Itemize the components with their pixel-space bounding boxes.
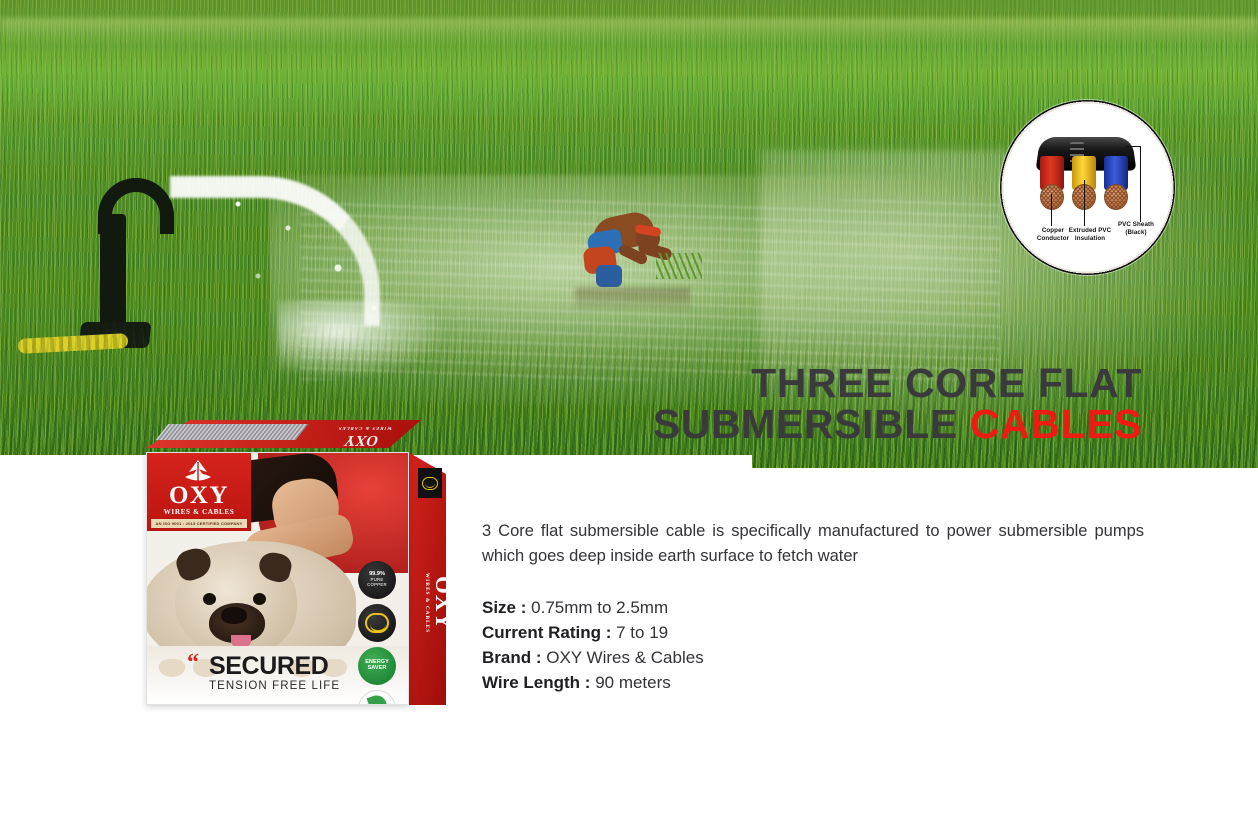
badge-eco-friendly: ECO FRIENDLY [358, 690, 396, 705]
iso-certification-line: AN ISO 9001 : 2015 CERTIFIED COMPANY [151, 519, 247, 528]
spec-value: 0.75mm to 2.5mm [531, 598, 668, 617]
spec-row: Brand : OXY Wires & Cables [482, 646, 704, 671]
pug-eye-right [253, 593, 266, 605]
field-light-band [0, 18, 1258, 44]
box-front-face: OXY WIRES & CABLES AN ISO 9001 : 2015 CE… [146, 452, 409, 705]
box-side-brand: OXY WIRES & CABLES [430, 558, 456, 648]
leaf-icon [366, 693, 388, 705]
farmer-legs [596, 265, 622, 287]
leader-line-sheath-v [1140, 146, 1141, 222]
pug-nose [221, 607, 247, 624]
leader-line-copper [1051, 194, 1052, 226]
hero-title: THREE CORE FLAT SUBMERSIBLE CABLES [653, 363, 1142, 444]
tagline-main: SECURED [209, 654, 399, 679]
badge-pure-copper: 99.9% PURE COPPER [358, 561, 396, 599]
box-lid-brand: OXY WIRES & CABLES [304, 422, 421, 448]
product-page: Copper Conductor Extruded PVC Insulation… [0, 0, 1258, 815]
spec-value: OXY Wires & Cables [546, 648, 703, 667]
spec-row: Size : 0.75mm to 2.5mm [482, 596, 704, 621]
isi-ring-icon [422, 477, 438, 490]
tagline-sub: TENSION FREE LIFE [209, 680, 399, 692]
copper-strands-blue [1104, 184, 1128, 210]
pug-eye-left [203, 593, 216, 605]
oxy-wordmark: OXY [147, 483, 251, 508]
leader-line-insulation [1084, 180, 1085, 226]
core-red [1040, 156, 1064, 212]
copper-strands-red [1040, 184, 1064, 210]
cable-diagram: Copper Conductor Extruded PVC Insulation… [1018, 118, 1157, 257]
farmer-figure [578, 205, 683, 295]
leader-line-sheath-h [1126, 146, 1141, 147]
badge-isi-mark [358, 604, 396, 642]
pug-paw [159, 659, 185, 677]
rice-seedlings [656, 253, 702, 279]
box-lid-barcode-strip [156, 424, 309, 440]
product-box-image: OXY WIRES & CABLES OXY WIRES & CABLES [130, 420, 442, 710]
spec-row: Current Rating : 7 to 19 [482, 621, 704, 646]
spec-label: Size : [482, 598, 526, 617]
product-specs-list: Size : 0.75mm to 2.5mm Current Rating : … [482, 596, 704, 696]
label-pvc-sheath: PVC Sheath (Black) [1110, 221, 1162, 237]
oxy-sub-wordmark: WIRES & CABLES [147, 508, 251, 516]
product-description: 3 Core flat submersible cable is specifi… [482, 519, 1144, 569]
core-blue [1104, 156, 1128, 212]
box-tagline: “ SECURED TENSION FREE LIFE ” [209, 654, 399, 692]
farmer-water-reflection [575, 288, 690, 314]
spec-label: Brand : [482, 648, 542, 667]
hero-title-line-1: THREE CORE FLAT [751, 360, 1142, 406]
hero-title-accent: CABLES [970, 401, 1142, 447]
spec-label: Current Rating : [482, 623, 611, 642]
spec-value: 90 meters [595, 673, 671, 692]
hero-banner: Copper Conductor Extruded PVC Insulation… [0, 0, 1258, 468]
hero-title-plain: SUBMERSIBLE [653, 401, 970, 447]
cable-cross-section-badge: Copper Conductor Extruded PVC Insulation… [1000, 100, 1175, 275]
isi-ring-icon [365, 613, 389, 633]
box-side-isi-mark [418, 468, 442, 498]
spec-value: 7 to 19 [616, 623, 668, 642]
spec-label: Wire Length : [482, 673, 590, 692]
spec-row: Wire Length : 90 meters [482, 671, 704, 696]
hero-title-line-2: SUBMERSIBLE CABLES [653, 404, 1142, 445]
box-brand-header: OXY WIRES & CABLES AN ISO 9001 : 2015 CE… [147, 453, 251, 531]
